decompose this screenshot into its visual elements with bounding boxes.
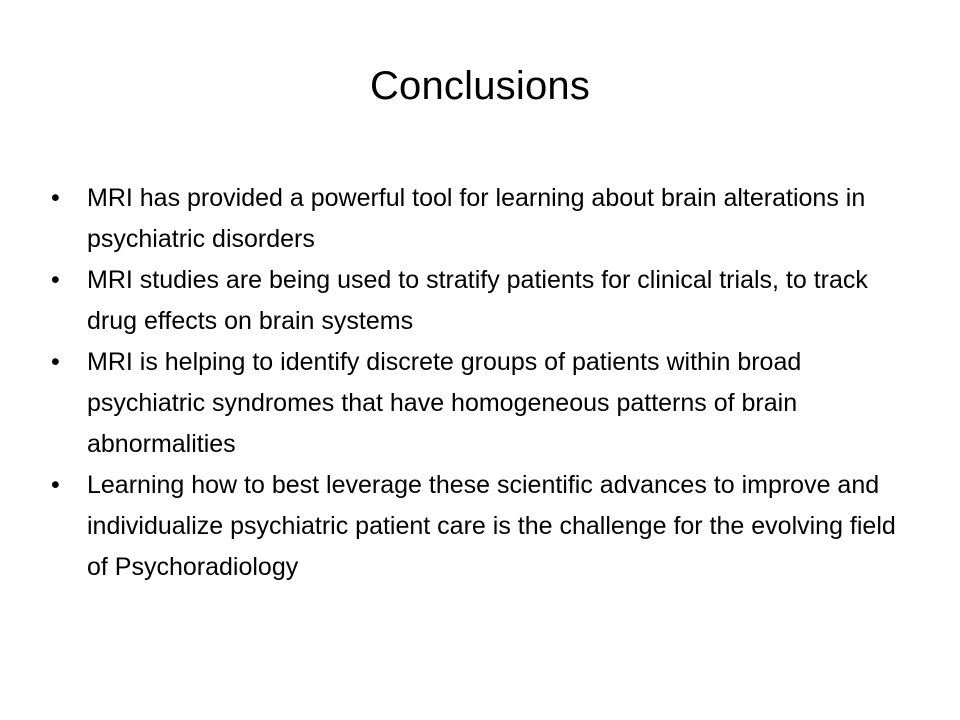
list-item-label: Learning how to best leverage these scie… (87, 465, 920, 588)
bullet-point-icon: • (51, 342, 75, 383)
list-item: • Learning how to best leverage these sc… (48, 465, 920, 588)
bullet-point-icon: • (51, 178, 75, 219)
list-item-label: MRI studies are being used to stratify p… (87, 260, 920, 342)
list-item-label: MRI is helping to identify discrete grou… (87, 342, 920, 465)
list-item: • MRI studies are being used to stratify… (48, 260, 920, 342)
list-item: • MRI is helping to identify discrete gr… (48, 342, 920, 465)
page-title: Conclusions (0, 62, 960, 110)
bullet-point-icon: • (51, 260, 75, 301)
list-item: • MRI has provided a powerful tool for l… (48, 178, 920, 260)
bullet-list: • MRI has provided a powerful tool for l… (48, 178, 920, 588)
presentation-slide: Conclusions • MRI has provided a powerfu… (0, 0, 960, 720)
list-item-label: MRI has provided a powerful tool for lea… (87, 178, 920, 260)
bullet-point-icon: • (51, 465, 75, 506)
